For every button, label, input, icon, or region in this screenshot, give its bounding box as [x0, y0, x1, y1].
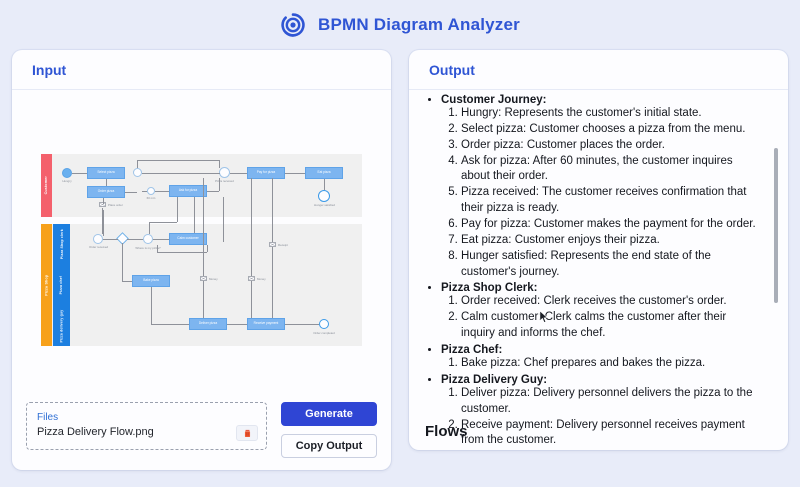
role-group: Pizza Chef:Bake pizza: Chef prepares and… — [441, 344, 762, 372]
role-group: Customer Journey:Hungry: Represents the … — [441, 94, 762, 280]
task-ask-for-pizza: Ask for pizza — [169, 185, 207, 197]
edge — [149, 222, 150, 234]
event-hunger-satisfied-label: Hunger satisfied — [312, 204, 337, 207]
elements-list: Customer Journey:Hungry: Represents the … — [425, 94, 762, 450]
edge — [207, 191, 219, 192]
event-60min — [147, 187, 155, 195]
edge — [177, 197, 178, 222]
message-receipt-label: Receipt — [278, 244, 288, 247]
event-where-is-pizza-label: Where is my pizza? — [132, 247, 164, 250]
task-order-pizza: Order pizza — [87, 186, 125, 198]
role-step: Pizza received: The customer receives co… — [461, 185, 762, 217]
event-pizza-received — [219, 167, 230, 178]
edge — [103, 198, 104, 204]
target-circle-icon — [280, 12, 306, 38]
role-step: Hungry: Represents the customer's initia… — [461, 106, 762, 122]
edge — [207, 245, 208, 252]
role-step: Order pizza: Customer places the order. — [461, 138, 762, 154]
role-step-list: Bake pizza: Chef prepares and bakes the … — [441, 356, 762, 372]
edge — [219, 178, 220, 191]
app-root: BPMN Diagram Analyzer Input Customer — [0, 0, 800, 487]
event-60min-label: 60 min — [142, 197, 160, 200]
role-step: Receive payment: Delivery personnel rece… — [461, 418, 762, 450]
edge — [272, 247, 273, 318]
message-money-1-label: Money — [209, 278, 218, 281]
edge — [227, 324, 247, 325]
role-group: Pizza Delivery Guy:Deliver pizza: Delive… — [441, 374, 762, 450]
role-group: Pizza Shop Clerk:Order received: Clerk r… — [441, 282, 762, 342]
action-buttons: Generate Copy Output — [281, 402, 377, 458]
edge — [103, 210, 104, 236]
task-receive-payment: Receive payment — [247, 318, 285, 330]
role-step: Calm customer: Clerk calms the customer … — [461, 310, 762, 342]
edge — [219, 160, 220, 168]
lane-clerk-header: Pizza Shop clerk — [53, 224, 70, 266]
edge — [203, 178, 204, 276]
edge — [103, 239, 118, 240]
edge — [102, 208, 103, 234]
lane-delivery-header: Pizza delivery guy — [53, 306, 70, 346]
edge — [106, 179, 107, 186]
edge — [223, 197, 224, 242]
edge — [137, 160, 220, 161]
edge — [151, 287, 152, 324]
task-pay-for-pizza: Pay for pizza — [247, 167, 285, 179]
role-step: Ask for pizza: After 60 minutes, the cus… — [461, 154, 762, 186]
generate-button[interactable]: Generate — [281, 402, 377, 426]
event-order-received — [93, 234, 103, 244]
edge — [285, 173, 305, 174]
file-actions-row: Files Pizza Delivery Flow.png — [26, 402, 377, 458]
event-order-completed — [319, 319, 329, 329]
output-panel: Output Elements Customer Journey:Hungry:… — [409, 50, 788, 450]
event-hungry-label: Hungry — [57, 180, 77, 183]
event-order-received-label: Order received — [86, 246, 111, 249]
edge — [127, 239, 143, 240]
files-label: Files — [37, 412, 256, 423]
role-step: Order received: Clerk receives the custo… — [461, 294, 762, 310]
edge — [151, 324, 189, 325]
role-step: Bake pizza: Chef prepares and bakes the … — [461, 356, 762, 372]
output-scroll-content: Elements Customer Journey:Hungry: Repres… — [425, 90, 762, 450]
output-panel-title: Output — [429, 62, 475, 78]
copy-output-button[interactable]: Copy Output — [281, 434, 377, 458]
edge — [251, 178, 252, 276]
task-eat-pizza: Eat pizza — [305, 167, 343, 179]
app-header: BPMN Diagram Analyzer — [0, 0, 800, 50]
role-step: Pay for pizza: Customer makes the paymen… — [461, 217, 762, 233]
task-deliver-pizza: Deliver pizza — [189, 318, 227, 330]
role-step: Hunger satisfied: Represents the end sta… — [461, 249, 762, 281]
task-bake-pizza: Bake pizza — [132, 275, 170, 287]
trash-icon[interactable] — [236, 425, 258, 441]
output-panel-header: Output — [409, 50, 788, 90]
pool-shop-header: Pizza Shop — [41, 224, 52, 346]
message-place-order-label: Place order — [108, 204, 123, 207]
edge — [251, 281, 252, 318]
event-order-completed-label: Order completed — [310, 332, 338, 335]
event-timer-boundary — [133, 168, 142, 177]
event-where-is-pizza — [143, 234, 153, 244]
file-name: Pizza Delivery Flow.png — [37, 426, 256, 438]
edge — [149, 222, 177, 223]
lane-chef-header: Pizza chef — [53, 265, 70, 307]
edge — [142, 173, 220, 174]
edge — [122, 281, 132, 282]
flows-heading: Flows — [425, 423, 468, 440]
edge — [142, 191, 147, 192]
edge — [203, 281, 204, 318]
app-title: BPMN Diagram Analyzer — [318, 15, 520, 35]
edge — [285, 324, 319, 325]
role-step-list: Hungry: Represents the customer's initia… — [441, 106, 762, 280]
edge — [153, 239, 169, 240]
output-panel-body[interactable]: Elements Customer Journey:Hungry: Repres… — [409, 90, 788, 450]
diagram-preview[interactable]: Customer Pizza Shop Pizza Shop clerk Piz… — [26, 98, 377, 402]
edge — [125, 192, 137, 193]
message-money-2-label: Money — [257, 278, 266, 281]
edge — [194, 197, 195, 233]
input-panel: Input Customer Pizza Shop — [12, 50, 391, 470]
role-step: Deliver pizza: Delivery personnel delive… — [461, 386, 762, 418]
role-step: Order completed: The order is marked as … — [461, 449, 762, 450]
task-select-pizza: Select pizza — [87, 167, 125, 179]
event-hungry — [62, 168, 72, 178]
role-step: Select pizza: Customer chooses a pizza f… — [461, 122, 762, 138]
file-dropzone[interactable]: Files Pizza Delivery Flow.png — [26, 402, 267, 450]
edge — [272, 178, 273, 242]
output-scrollbar[interactable] — [774, 148, 778, 303]
event-hunger-satisfied — [318, 190, 330, 202]
pool-customer-header: Customer — [41, 154, 52, 217]
edge — [324, 179, 325, 190]
edge — [72, 173, 87, 174]
edge — [155, 191, 169, 192]
event-pizza-received-label: Pizza received — [211, 180, 238, 183]
task-calm-customer: Calm customer — [169, 233, 207, 245]
edge — [230, 173, 247, 174]
role-step-list: Order received: Clerk receives the custo… — [441, 294, 762, 342]
bpmn-diagram: Customer Pizza Shop Pizza Shop clerk Piz… — [29, 142, 374, 354]
panels-container: Input Customer Pizza Shop — [0, 50, 800, 470]
role-step-list: Deliver pizza: Delivery personnel delive… — [441, 386, 762, 450]
edge — [122, 243, 123, 281]
input-panel-body: Customer Pizza Shop Pizza Shop clerk Piz… — [12, 90, 391, 470]
input-panel-title: Input — [32, 62, 66, 78]
edge — [157, 252, 207, 253]
input-panel-header: Input — [12, 50, 391, 90]
role-step: Eat pizza: Customer enjoys their pizza. — [461, 233, 762, 249]
edge — [137, 160, 138, 168]
